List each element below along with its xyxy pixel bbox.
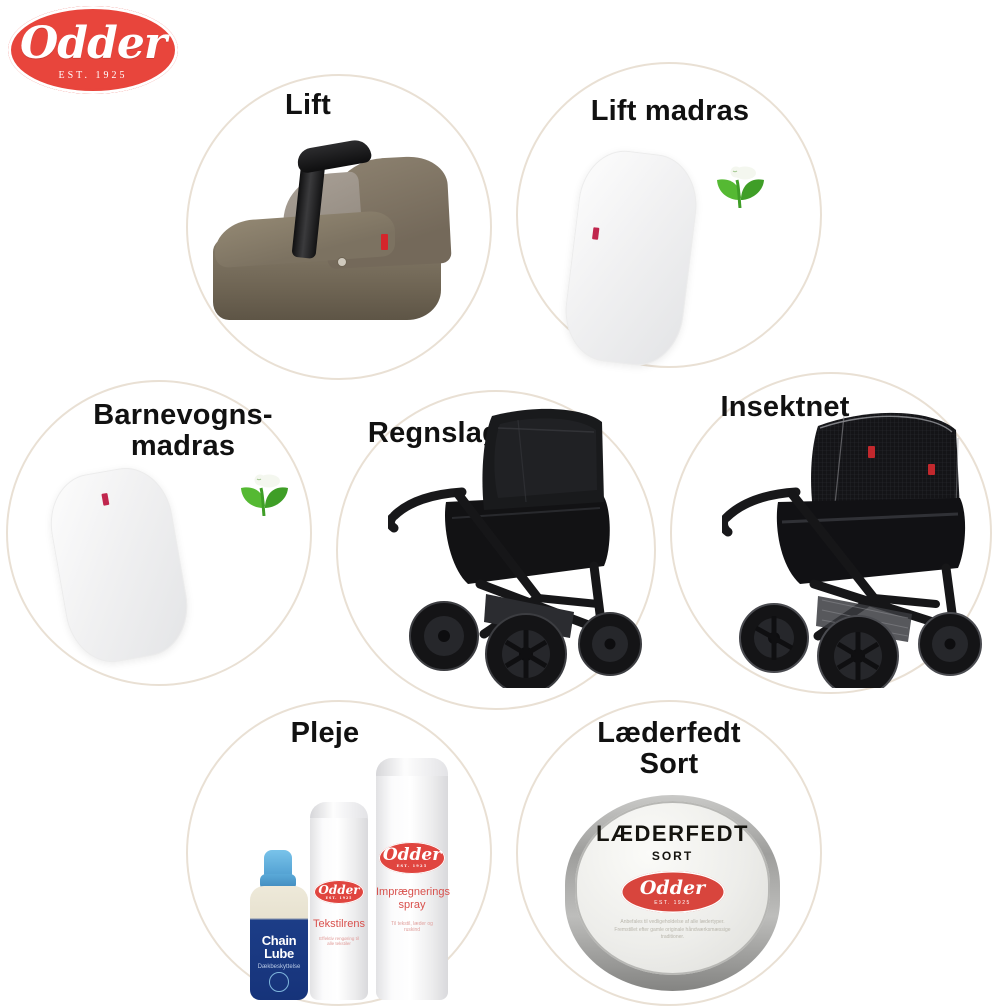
brand-established: EST. 1925 [654, 900, 691, 906]
tin-lid: LÆDERFEDT SORT Odder EST. 1925 Anbefales… [575, 801, 770, 975]
caption-laederfedt: Læderfedt Sort [574, 718, 764, 781]
can-top [310, 802, 368, 818]
brand-established: EST. 1925 [326, 897, 353, 900]
chain-lube-subtitle: Dækbeskyttelse [250, 964, 308, 972]
brand-name: Odder [318, 884, 359, 896]
tin-body-text: Anbefales til vedligeholdelse af alle læ… [614, 919, 732, 942]
tin-subtitle: SORT [652, 849, 693, 863]
impregnation-spray-sub: Til tekstil, læder og ruskind [376, 922, 448, 934]
textilrens-sub: Effektiv rengøring til alle tekstiler [310, 936, 368, 946]
pram-insectnet-icon [722, 398, 992, 688]
chain-lube-seal [269, 972, 289, 992]
can-body: Odder EST. 1925 Tekstilrens Effektiv ren… [310, 802, 368, 1000]
carrycot-stud [338, 258, 346, 266]
brand-established: EST. 1925 [58, 70, 127, 81]
odder-oval-logo: Odder EST. 1925 [379, 842, 445, 874]
textilrens-name: Tekstilrens [310, 918, 368, 931]
brand-name: Odder [640, 879, 705, 898]
product-collage: Odder EST. 1925 Lift Lift madras [0, 0, 1000, 1000]
leather-grease-tin-icon: LÆDERFEDT SORT Odder EST. 1925 Anbefales… [565, 795, 780, 991]
caption-lift: Lift [228, 90, 388, 121]
brand-established: EST. 1925 [397, 865, 428, 869]
eco-leaf-baby-icon [712, 160, 768, 208]
caption-barnevogns-madras: Barnevogns- madras [58, 400, 308, 463]
chain-lube-bottle: Chain Lube Dækbeskyttelse [248, 850, 310, 1000]
pram-raincover-icon [388, 398, 658, 688]
impregnation-spray-can: Odder EST. 1925 Imprægnerings spray Til … [376, 758, 448, 1000]
carrycot-icon [205, 130, 450, 335]
carrycot-brand-tag [381, 234, 388, 250]
brand-name: Odder [383, 847, 441, 864]
odder-oval-logo: Odder EST. 1925 [621, 871, 725, 913]
care-products-icon: Chain Lube Dækbeskyttelse Odder EST. 192… [248, 740, 438, 1000]
brand-name: Odder [20, 22, 166, 66]
bottle-label: Chain Lube Dækbeskyttelse [250, 886, 308, 1000]
odder-logo: Odder EST. 1925 [8, 6, 178, 94]
tin-title: LÆDERFEDT [596, 823, 749, 845]
can-top [376, 758, 448, 776]
eco-leaf-baby-icon [236, 468, 292, 516]
odder-oval-logo: Odder EST. 1925 [314, 880, 364, 904]
can-body: Odder EST. 1925 Imprægnerings spray Til … [376, 758, 448, 1000]
impregnation-spray-name: Imprægnerings spray [376, 886, 448, 911]
caption-lift-madras: Lift madras [560, 96, 780, 127]
chain-lube-title: Chain Lube [250, 934, 308, 961]
textilrens-can: Odder EST. 1925 Tekstilrens Effektiv ren… [310, 802, 368, 1000]
